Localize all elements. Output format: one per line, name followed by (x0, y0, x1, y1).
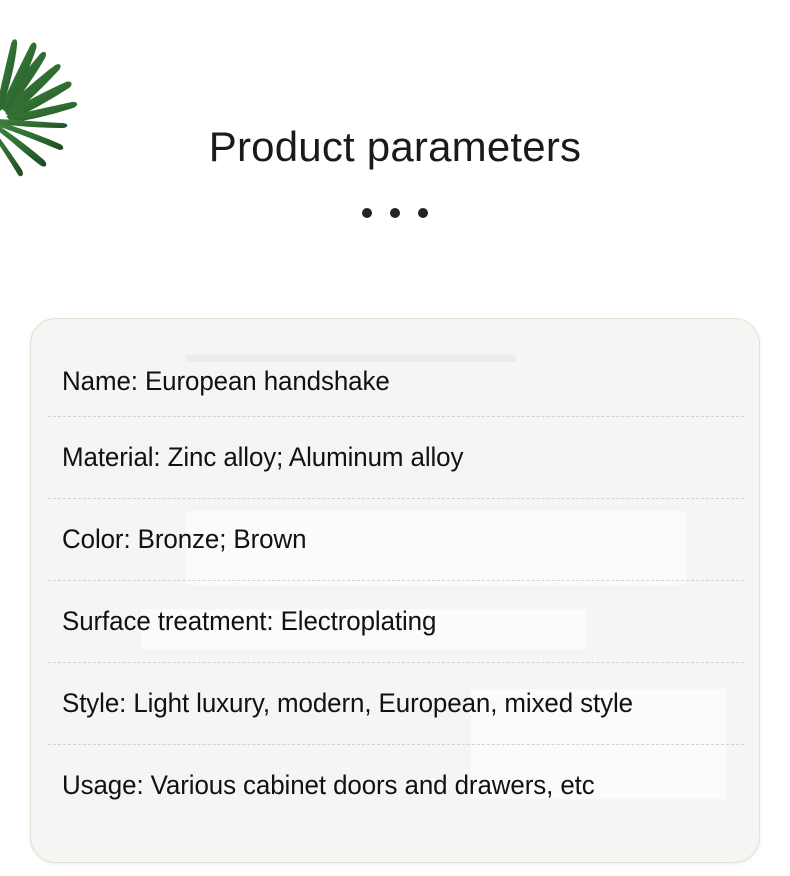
spec-row-text-material: Material: Zinc alloy; Aluminum alloy (62, 440, 463, 474)
spec-row: Material: Zinc alloy; Aluminum alloy (31, 416, 759, 498)
spec-row-text-style: Style: Light luxury, modern, European, m… (62, 686, 633, 720)
spec-row-text-color: Color: Bronze; Brown (62, 522, 306, 556)
ornament-dot-3 (418, 208, 428, 218)
product-parameters-page: Product parameters Name: European handsh… (0, 0, 790, 876)
page-title: Product parameters (0, 122, 790, 172)
spec-row: Surface treatment: Electroplating (31, 580, 759, 662)
spec-row: Color: Bronze; Brown (31, 498, 759, 580)
spec-row-text-surface-treatment: Surface treatment: Electroplating (62, 604, 436, 638)
ornament-dot-1 (362, 208, 372, 218)
spec-row: Usage: Various cabinet doors and drawers… (31, 744, 759, 826)
page-header: Product parameters (0, 0, 790, 300)
spec-row-text-usage: Usage: Various cabinet doors and drawers… (62, 768, 595, 802)
three-dots-ornament (0, 208, 790, 218)
spec-row: Style: Light luxury, modern, European, m… (31, 662, 759, 744)
spec-row-list: Name: European handshake Material: Zinc … (31, 319, 759, 862)
product-parameters-card: Name: European handshake Material: Zinc … (30, 318, 760, 863)
spec-row-text-name: Name: European handshake (62, 364, 390, 398)
spec-row: Name: European handshake (31, 319, 759, 416)
ornament-dot-2 (390, 208, 400, 218)
